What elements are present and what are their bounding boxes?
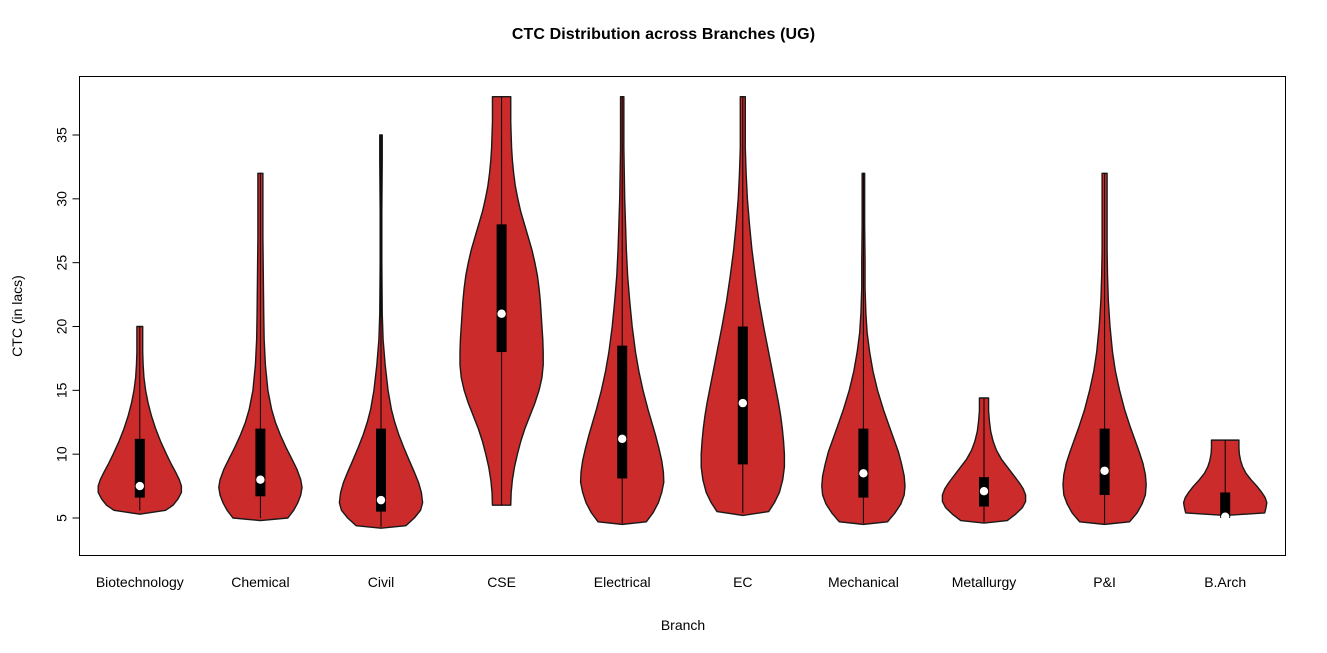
violin-plot-figure: CTC Distribution across Branches (UG) 51… [0,0,1327,653]
y-axis-title: CTC (in lacs) [9,275,25,357]
violin-median-dot [497,310,505,318]
violin-civil [339,135,422,528]
violin-iqr-box [1100,429,1110,495]
y-axis-tick-label: 30 [54,191,70,207]
violin-median-dot [256,476,264,484]
violin-chemical [219,173,302,520]
violin-iqr-box [858,429,868,498]
x-axis-category-label: Electrical [594,574,651,590]
violin-b-arch [1184,440,1267,521]
violin-median-dot [739,399,747,407]
violins-layer [98,97,1267,529]
violin-iqr-box [617,346,627,479]
x-axis-category-label: Chemical [231,574,289,590]
violin-iqr-box [738,327,748,465]
violin-biotechnology [98,327,181,515]
violin-ec [701,97,784,516]
x-axis-category-label: Biotechnology [96,574,184,590]
y-axis-tick-label: 25 [54,255,70,271]
violin-median-dot [1100,467,1108,475]
violin-iqr-box [497,224,507,352]
violin-median-dot [136,482,144,490]
violin-median-dot [980,487,988,495]
violin-median-dot [377,496,385,504]
y-axis-tick-label: 35 [54,127,70,143]
y-axis-tick-label: 10 [54,446,70,462]
x-axis-category-label: Mechanical [828,574,899,590]
x-axis-category-label: P&I [1093,574,1116,590]
violin-median-dot [859,469,867,477]
x-axis-category-label: CSE [487,574,516,590]
violin-median-dot [618,435,626,443]
y-axis-tick-label: 5 [54,514,70,522]
violin-median-dot [1221,513,1229,521]
x-axis: BiotechnologyChemicalCivilCSEElectricalE… [96,574,1246,590]
violin-mechanical [822,173,905,524]
x-axis-category-label: EC [733,574,752,590]
x-axis-title: Branch [661,617,705,633]
x-axis-category-label: Civil [368,574,394,590]
x-axis-category-label: B.Arch [1204,574,1246,590]
y-axis-tick-label: 20 [54,319,70,335]
y-axis-tick-label: 15 [54,382,70,398]
chart-canvas: 5101520253035 BiotechnologyChemicalCivil… [0,0,1327,653]
violin-p-i [1063,173,1146,524]
y-axis: 5101520253035 [54,127,80,522]
violin-iqr-box [255,429,265,497]
violin-electrical [581,97,664,525]
violin-cse [460,97,543,506]
violin-metallurgy [942,398,1025,523]
x-axis-category-label: Metallurgy [952,574,1017,590]
